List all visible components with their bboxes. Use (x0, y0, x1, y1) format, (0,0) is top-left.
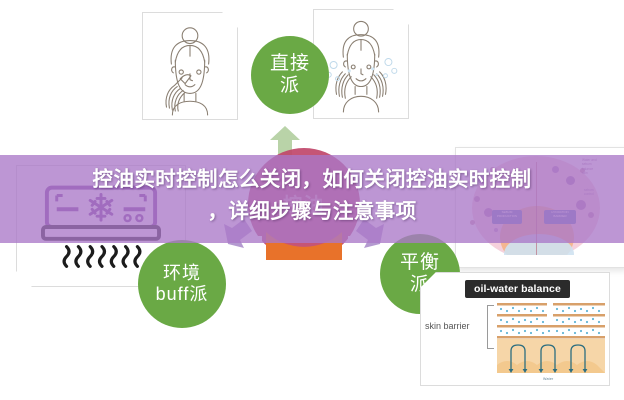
node-label-direct-line1: 直接 (270, 53, 310, 75)
node-circle-direct: 直接 派 (251, 36, 329, 114)
node-label-environment-line1: 环境 (163, 263, 201, 284)
oil-water-balance-card: oil-water balance skin barrier (420, 272, 610, 386)
page-title-line1: 控油实时控制怎么关闭，如何关闭控油实时控制 (93, 168, 532, 191)
oil-water-balance-title: oil-water balance (465, 280, 570, 298)
infographic-bottom-strip (456, 255, 624, 267)
page-title: 控油实时控制怎么关闭，如何关闭控油实时控制 ，详细步骤与注意事项 (0, 164, 624, 228)
node-circle-environment: 环境 buff派 (138, 240, 226, 328)
skin-barrier-label: skin barrier (425, 321, 470, 331)
node-label-environment-line2: buff派 (156, 284, 209, 305)
face-blotting-illustration (143, 13, 237, 119)
skin-barrier-bracket (487, 305, 494, 349)
face-washing-illustration (314, 10, 408, 118)
page-title-line2: ，详细步骤与注意事项 (208, 200, 417, 223)
oil-water-balance-foot-label: Water (543, 377, 553, 381)
node-label-balance-line1: 平衡 (400, 252, 440, 274)
skin-layer-diagram (497, 303, 605, 381)
face-blotting-card (142, 12, 238, 120)
infographic-screenshot: 直接 派 控油 (0, 0, 624, 400)
node-label-direct-line2: 派 (280, 75, 300, 97)
